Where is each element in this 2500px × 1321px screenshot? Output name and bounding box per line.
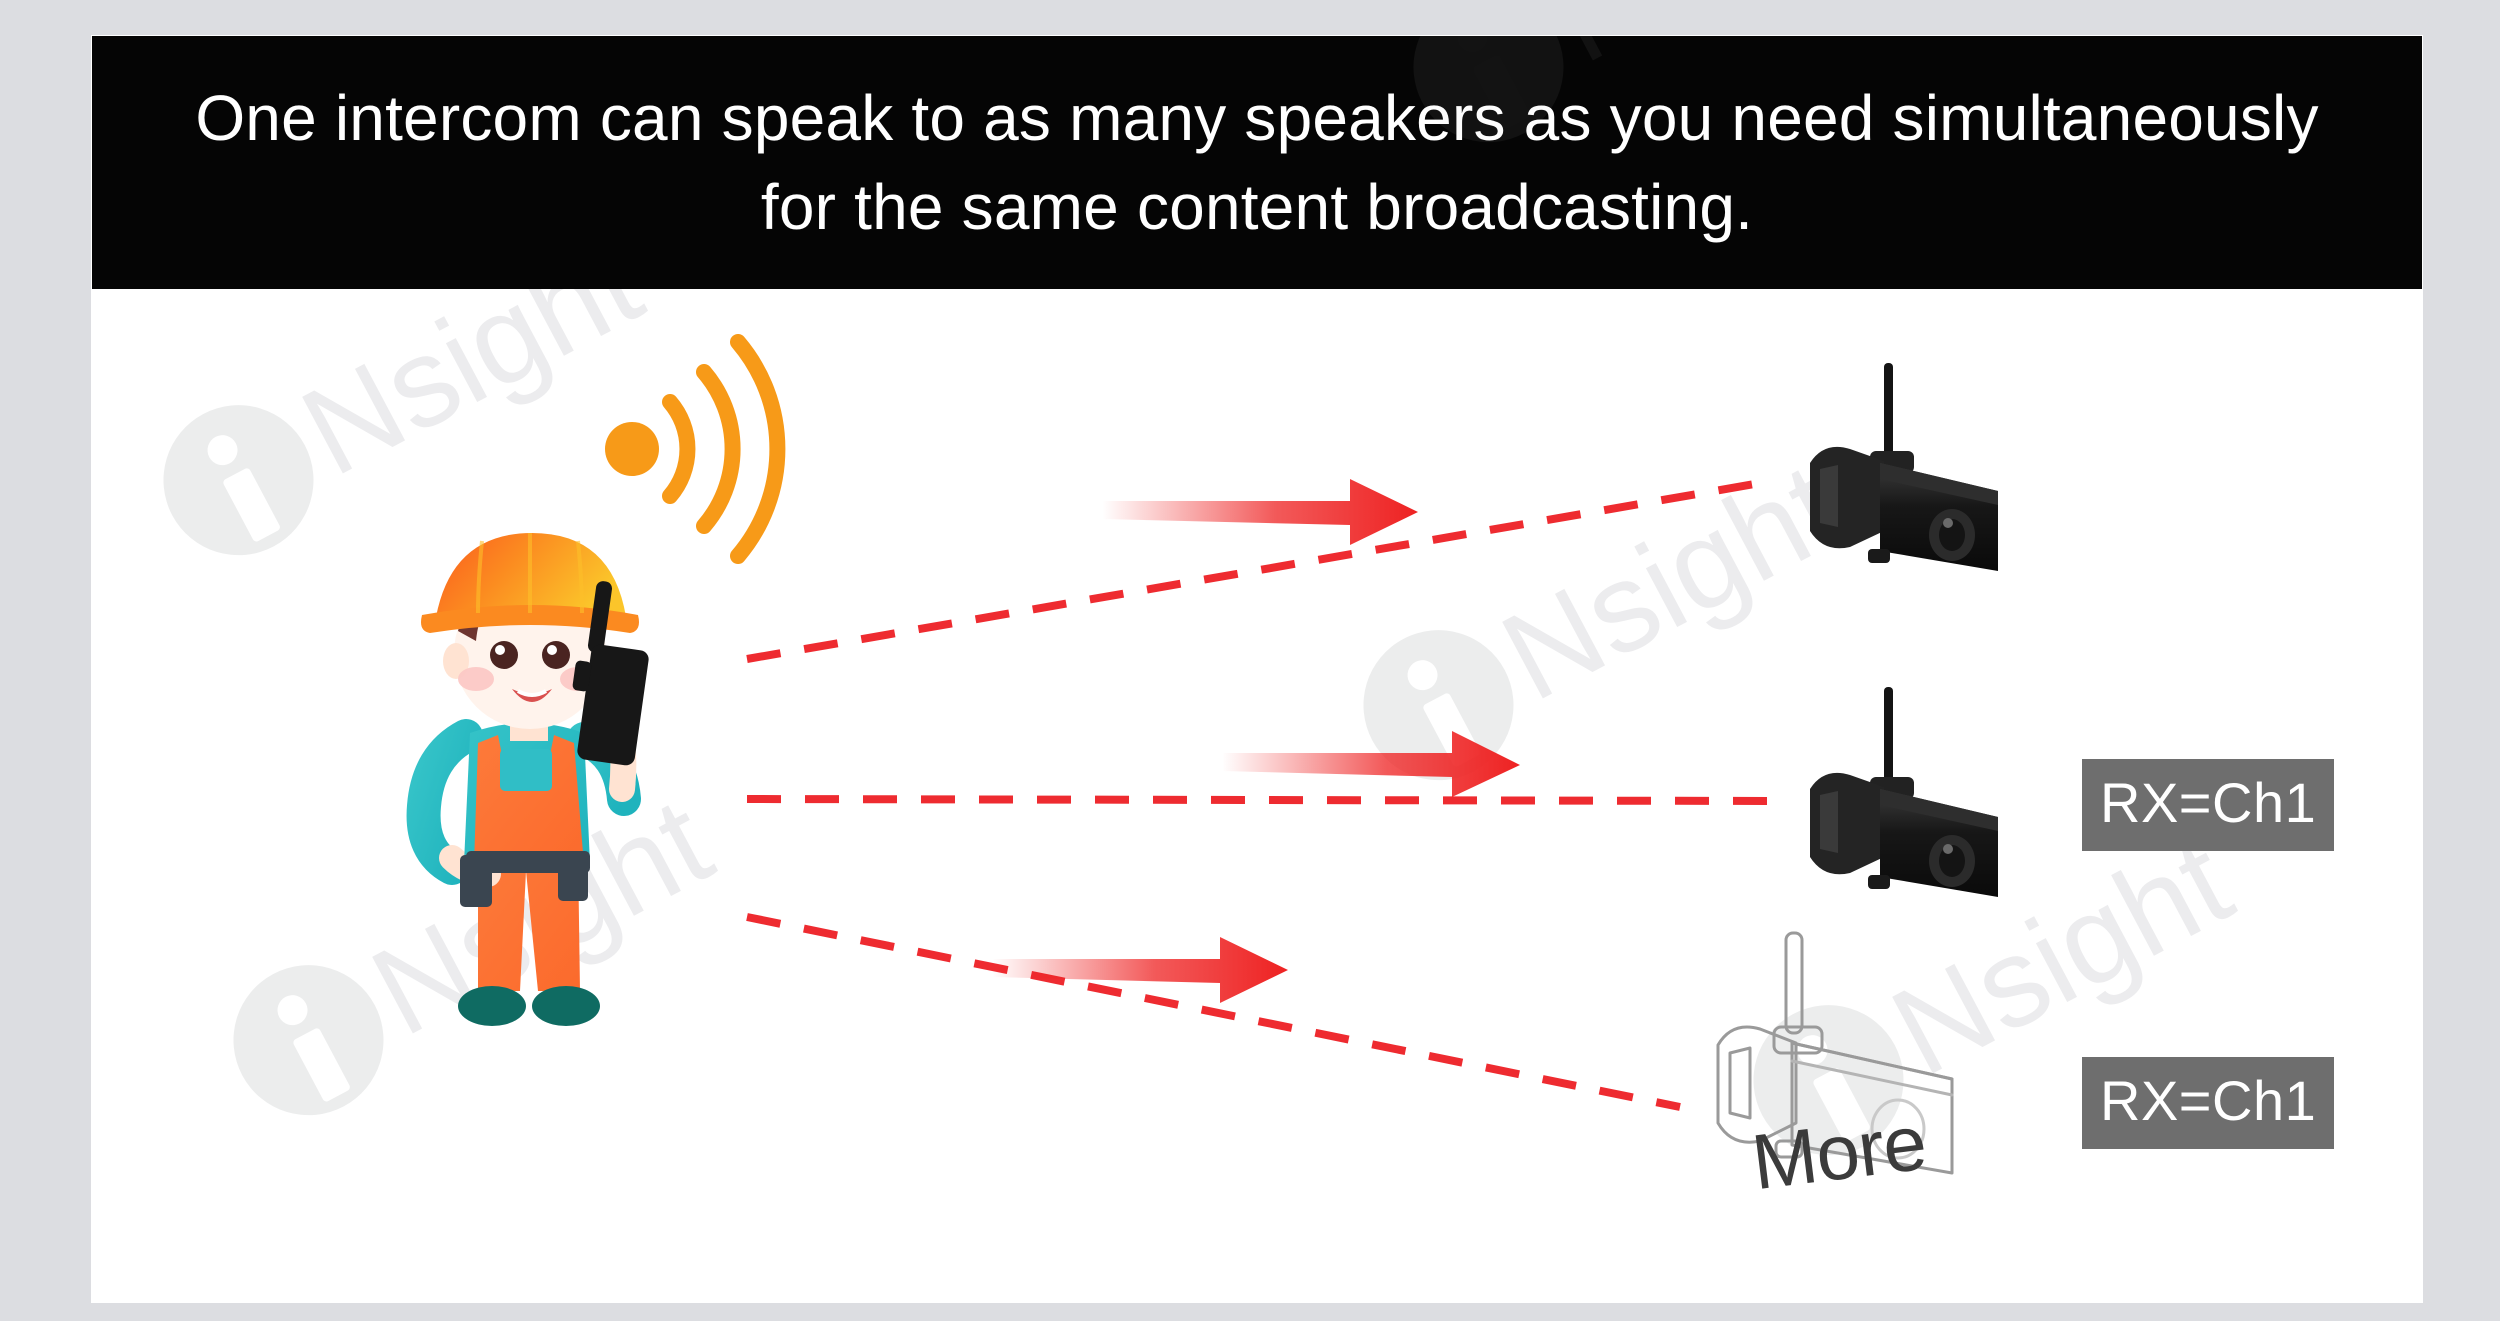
worker-with-walkie-talkie-icon [370, 521, 700, 1051]
beam-dashed-3 [747, 917, 1680, 1107]
label-rx-channel-1: RX=Ch1 [2082, 759, 2334, 851]
slide-frame: One intercom can speak to as many speake… [92, 36, 2422, 1302]
header-line-2: for the same content broadcasting. [761, 170, 1753, 244]
horn-speaker-icon-2 [1772, 687, 2062, 937]
diagram-canvas: Nsight Nsight Nsight Nsight [92, 289, 2422, 1302]
slide-stage: One intercom can speak to as many speake… [0, 0, 2500, 1321]
header-line-1: One intercom can speak to as many speake… [195, 81, 2318, 155]
label-rx-channel-2: RX=Ch1 [2082, 1057, 2334, 1149]
header-banner: One intercom can speak to as many speake… [92, 36, 2422, 289]
beam-dashed-1 [747, 481, 1772, 659]
arrow-right-icon-3 [992, 937, 1288, 1003]
arrow-right-icon-2 [1222, 731, 1520, 797]
horn-speaker-icon-1 [1772, 359, 2062, 609]
arrow-right-icon-1 [1102, 479, 1418, 545]
watermark-logo-icon [137, 379, 340, 582]
watermark-text: Nsight [1534, 36, 1909, 83]
watermark-logo-icon [1337, 604, 1540, 807]
beam-dashed-2 [747, 799, 1772, 801]
